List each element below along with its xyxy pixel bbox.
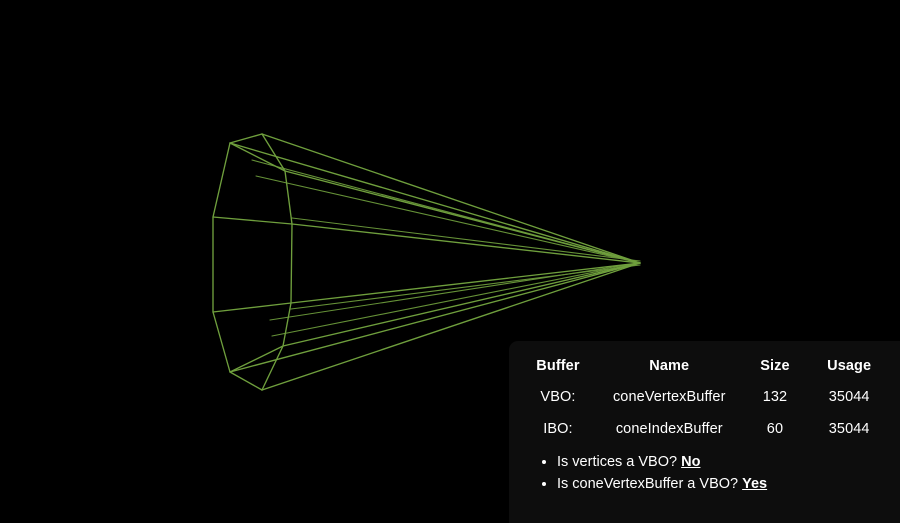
fact-answer: No — [681, 454, 700, 470]
column-header-name: Name — [597, 355, 742, 385]
fact-answer: Yes — [742, 476, 767, 492]
fact-question: Is coneVertexBuffer a VBO? — [557, 476, 738, 492]
cell-buffer-size: 132 — [742, 385, 809, 417]
table-row: IBO: coneIndexBuffer 60 35044 — [519, 417, 890, 449]
column-header-size: Size — [742, 355, 809, 385]
buffer-info-panel: Buffer Name Size Usage VBO: coneVertexBu… — [509, 341, 900, 523]
facts-list: Is vertices a VBO? No Is coneVertexBuffe… — [519, 451, 890, 495]
table-row: VBO: coneVertexBuffer 132 35044 — [519, 385, 890, 417]
fact-question: Is vertices a VBO? — [557, 454, 677, 470]
cell-buffer-type: VBO: — [519, 385, 597, 417]
column-header-buffer: Buffer — [519, 355, 597, 385]
cell-buffer-usage: 35044 — [808, 417, 890, 449]
cell-buffer-size: 60 — [742, 417, 809, 449]
cell-buffer-usage: 35044 — [808, 385, 890, 417]
buffer-table: Buffer Name Size Usage VBO: coneVertexBu… — [519, 355, 890, 449]
cell-buffer-name: coneVertexBuffer — [597, 385, 742, 417]
list-item: Is coneVertexBuffer a VBO? Yes — [557, 473, 890, 495]
cell-buffer-type: IBO: — [519, 417, 597, 449]
column-header-usage: Usage — [808, 355, 890, 385]
table-header-row: Buffer Name Size Usage — [519, 355, 890, 385]
cell-buffer-name: coneIndexBuffer — [597, 417, 742, 449]
list-item: Is vertices a VBO? No — [557, 451, 890, 473]
